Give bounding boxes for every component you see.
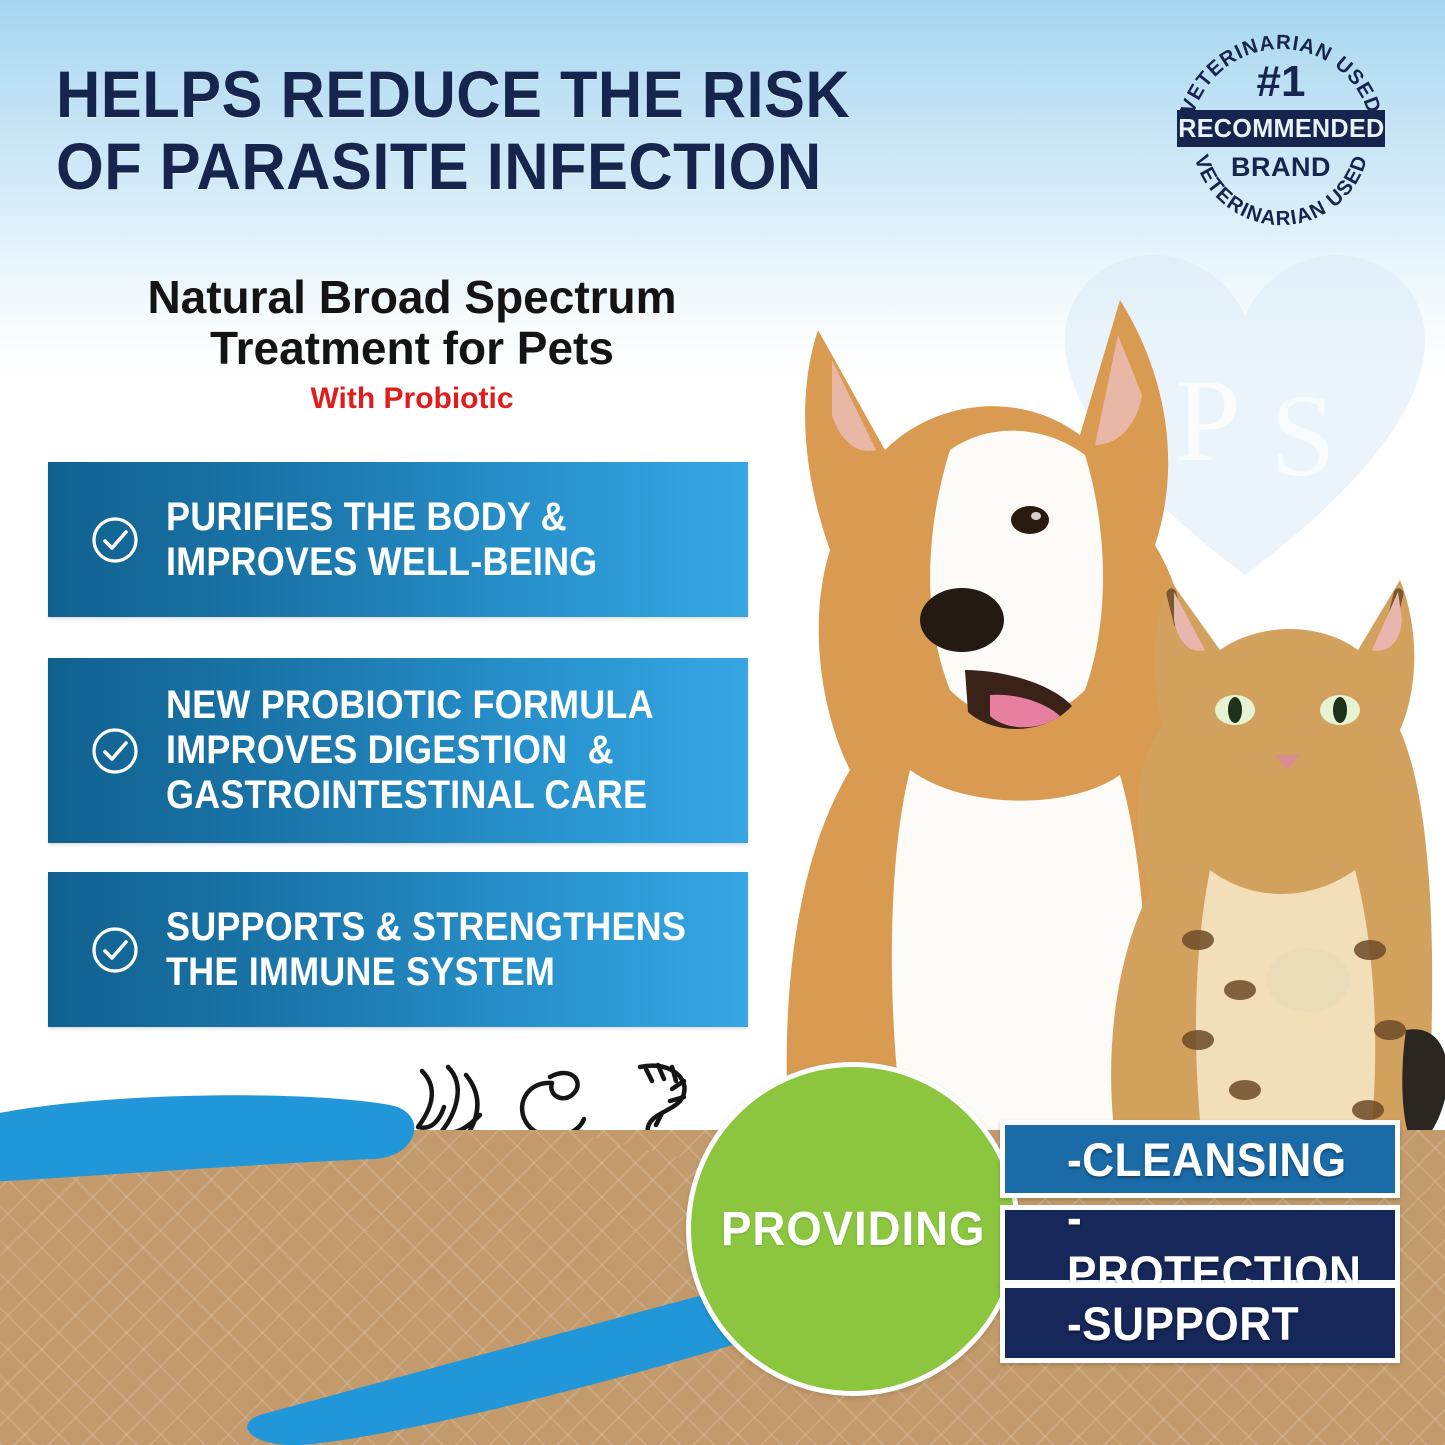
benefit-bar-cleansing: -CLEANSING [1000, 1120, 1400, 1198]
feature-text-2: NEW PROBIOTIC FORMULAIMPROVES DIGESTION … [166, 683, 654, 818]
feature-bar-1: PURIFIES THE BODY &IMPROVES WELL-BEING [48, 462, 748, 617]
benefit-bar-protection: -PROTECTION [1000, 1205, 1400, 1285]
check-circle-icon [90, 515, 140, 565]
benefit-label-support: -SUPPORT [1067, 1296, 1299, 1351]
feature-bar-2: NEW PROBIOTIC FORMULAIMPROVES DIGESTION … [48, 658, 748, 843]
product-infographic: P S HELPS REDUCE THE RISK OF PARASITE IN… [0, 0, 1445, 1445]
benefit-bar-support: -SUPPORT [1000, 1283, 1400, 1363]
providing-circle: PROVIDING [686, 1062, 1020, 1396]
check-circle-icon [90, 726, 140, 776]
feature-3-line-2: THE IMMUNE SYSTEM [166, 950, 555, 994]
feature-1-line-2: IMPROVES WELL-BEING [166, 540, 597, 584]
providing-label: PROVIDING [721, 1202, 985, 1257]
feature-bar-3: SUPPORTS & STRENGTHENSTHE IMMUNE SYSTEM [48, 872, 748, 1027]
feature-text-1: PURIFIES THE BODY &IMPROVES WELL-BEING [166, 495, 597, 585]
feature-2-line-2: IMPROVES DIGESTION & [166, 728, 614, 772]
feature-2-line-1: NEW PROBIOTIC FORMULA [166, 683, 654, 727]
check-circle-icon [90, 925, 140, 975]
benefit-label-cleansing: -CLEANSING [1067, 1132, 1347, 1187]
feature-text-3: SUPPORTS & STRENGTHENSTHE IMMUNE SYSTEM [166, 905, 686, 995]
feature-2-line-3: GASTROINTESTINAL CARE [166, 773, 647, 817]
feature-3-line-1: SUPPORTS & STRENGTHENS [166, 905, 686, 949]
feature-1-line-1: PURIFIES THE BODY & [166, 495, 567, 539]
